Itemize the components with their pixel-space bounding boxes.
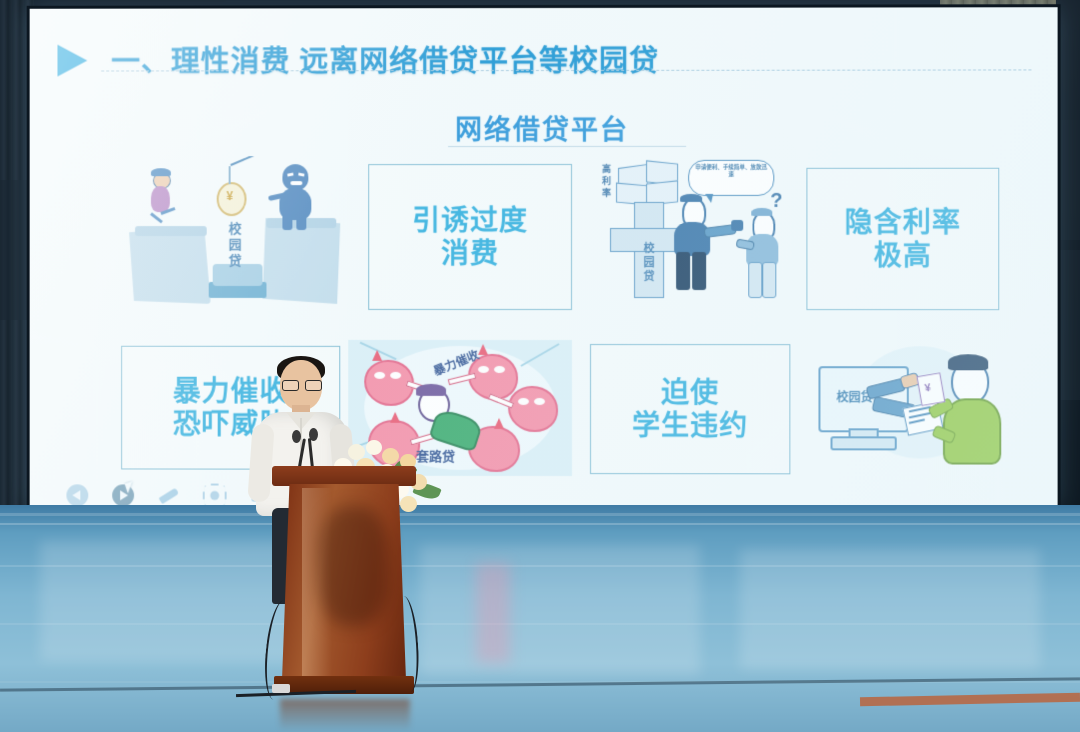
- textbox-line-1: 引诱过度: [412, 204, 528, 237]
- textbox-excessive-consumption: 引诱过度 消费: [368, 164, 572, 310]
- auditorium-scene: 一、理性消费 远离网络借贷平台等校园贷 网络借贷平台 校园贷: [0, 0, 1080, 732]
- microphone-head-left: [292, 430, 301, 443]
- next-slide-icon[interactable]: [111, 483, 135, 507]
- illus-speech-bubble: 申请便利、手续简单、放款迅速: [688, 160, 774, 196]
- textbox-line-1: 隐含利率: [845, 206, 962, 239]
- pen-icon[interactable]: [157, 483, 181, 507]
- mouse-cursor-icon: [125, 481, 136, 493]
- play-triangle-icon: [57, 45, 87, 77]
- subtitle-underline: [448, 146, 686, 147]
- textbox-line-2: 消费: [412, 237, 528, 270]
- textbox-line-1: 迫使: [632, 376, 748, 409]
- wooden-podium: [278, 466, 410, 706]
- wall-panel: [1058, 120, 1080, 240]
- podium-top: [272, 466, 416, 486]
- textbox-line-2: 学生违约: [632, 409, 748, 442]
- illus-caption-high-interest: 高利率: [600, 164, 613, 200]
- previous-slide-icon[interactable]: [65, 483, 89, 507]
- cable-connector: [272, 684, 290, 693]
- microphone-head-right: [309, 428, 318, 441]
- zoom-target-icon[interactable]: [203, 484, 227, 508]
- slide-header: 一、理性消费 远离网络借贷平台等校园贷: [30, 21, 1058, 84]
- fishing-trap-illustration: 校园贷 ¥: [121, 156, 350, 314]
- slide-subtitle: 网络借贷平台: [30, 108, 1058, 148]
- podium-shadow: [318, 506, 388, 626]
- wall-panel: [0, 180, 28, 320]
- glasses-icon: [282, 380, 320, 389]
- illus-caption-question-mark: ?: [770, 190, 782, 213]
- loan-platform-illustration: 高利率 校园贷 申请便利、手续简单、放款迅速 ?: [576, 150, 806, 316]
- textbox-hidden-interest-rate: 隐含利率 极高: [806, 168, 999, 310]
- wall-panel: [1058, 250, 1080, 400]
- projection-screen: 一、理性消费 远离网络借贷平台等校园贷 网络借贷平台 校园贷: [30, 7, 1058, 508]
- textbox-line-2: 极高: [845, 239, 962, 272]
- illus-caption-campus-loan: 校园贷: [640, 242, 656, 284]
- illus-caption-campus-loan: 校园贷: [225, 222, 244, 270]
- page-title: 一、理性消费 远离网络借贷平台等校园贷: [111, 38, 659, 81]
- hall-floor: [0, 505, 1080, 732]
- online-loan-monitor-illustration: 校园贷 ¥: [808, 344, 1023, 475]
- textbox-force-student-default: 迫使 学生违约: [590, 344, 790, 474]
